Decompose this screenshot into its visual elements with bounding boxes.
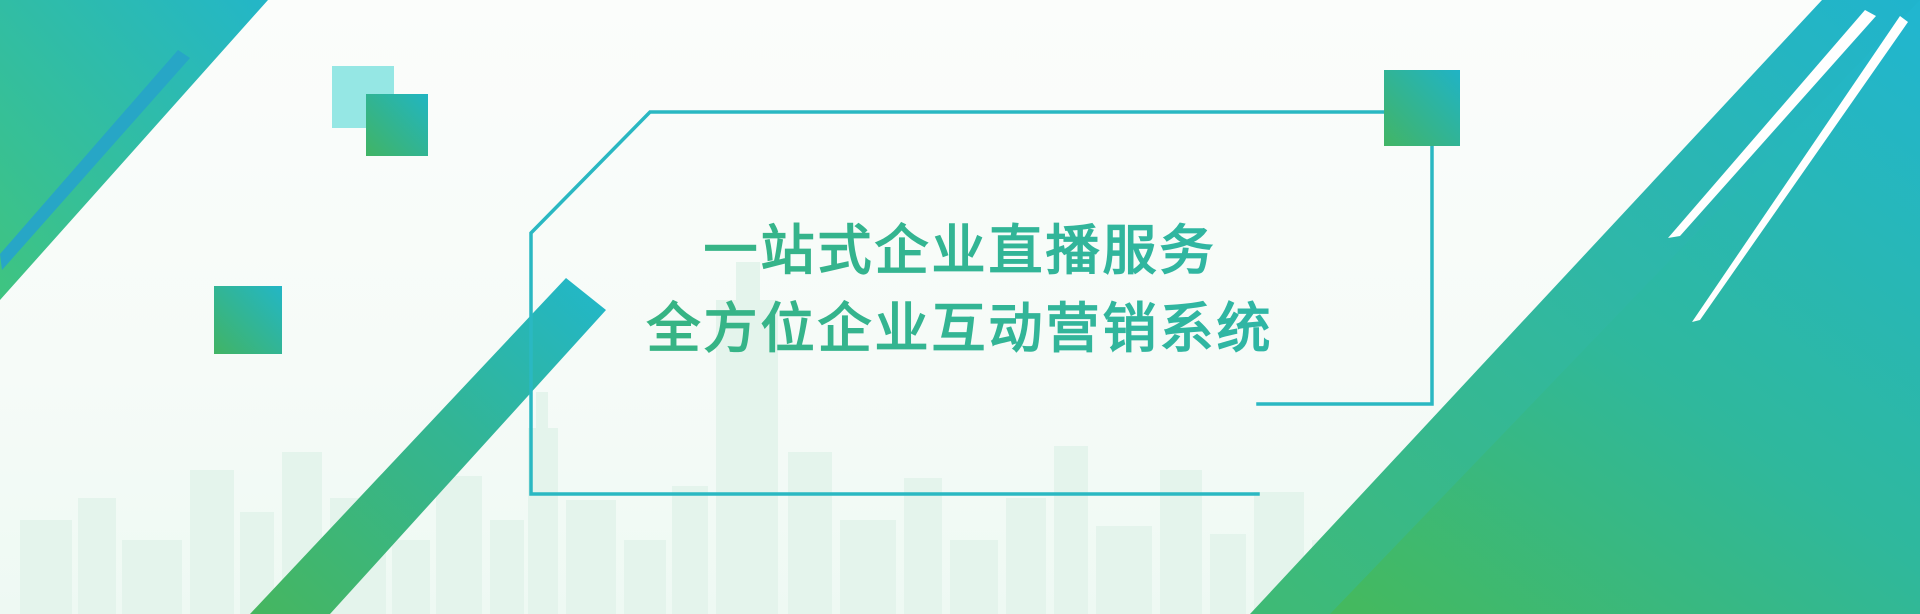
square-decor-gradient — [366, 94, 428, 156]
promo-banner: 一站式企业直播服务 全方位企业互动营销系统 — [0, 0, 1920, 614]
banner-background-art — [0, 0, 1920, 614]
square-decor-left — [214, 286, 282, 354]
square-decor-frame-corner — [1384, 70, 1460, 146]
